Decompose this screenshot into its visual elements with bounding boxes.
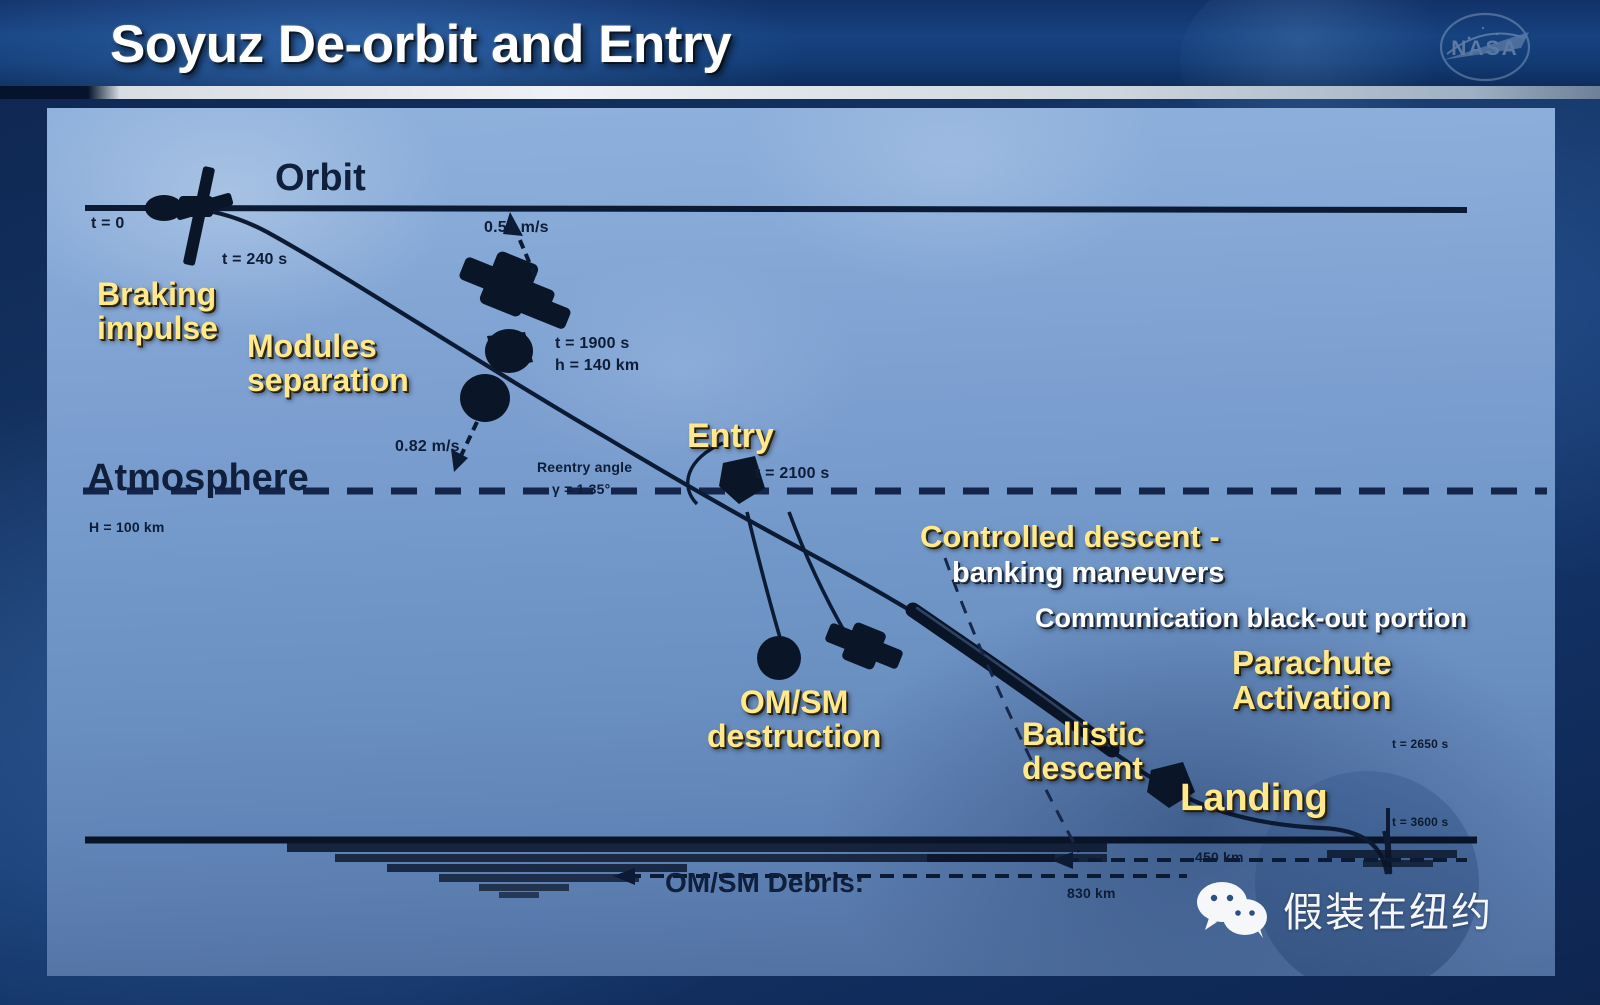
trajectory-vector-art xyxy=(47,108,1555,976)
title-divider-rule xyxy=(0,86,1600,99)
atmosphere-altitude-label: H = 100 km xyxy=(89,520,165,535)
orbit-label: Orbit xyxy=(275,158,366,198)
watermark-text: 假装在纽约 xyxy=(1283,880,1493,938)
page-title: Soyuz De-orbit and Entry xyxy=(110,14,731,75)
annotation-t0: t = 0 xyxy=(91,216,124,233)
om-debris-blob xyxy=(757,636,801,680)
annotation-separation-velocity-up: 0.58 m/s xyxy=(484,220,549,237)
annotation-h140: h = 140 km xyxy=(555,358,639,375)
om-sm-destruction-label: OM/SM destruction xyxy=(707,686,881,754)
annotation-t2650: t = 2650 s xyxy=(1392,738,1448,751)
watermark: 假装在纽约 xyxy=(1195,880,1493,938)
debris-range-near-label: 450 km xyxy=(1195,850,1244,865)
presentation-slide: Soyuz De-orbit and Entry NASA xyxy=(0,0,1600,1005)
parachute-activation-label: Parachute Activation xyxy=(1232,646,1392,716)
reentry-angle-label-line1: Reentry angle xyxy=(537,460,632,475)
om-destruction-path xyxy=(747,512,783,648)
communication-blackout-label: Communication black-out portion xyxy=(1035,604,1467,633)
annotation-t3600: t = 3600 s xyxy=(1392,816,1448,829)
atmosphere-label: Atmosphere xyxy=(87,458,309,498)
entry-label: Entry xyxy=(687,418,774,454)
annotation-t2100: t = 2100 s xyxy=(755,466,830,483)
controlled-descent-label: Controlled descent - xyxy=(920,521,1220,554)
deorbit-trajectory-diagram: Orbit t = 0 t = 240 s Braking impulse Mo… xyxy=(47,108,1555,976)
soyuz-spacecraft-orbit-icon xyxy=(145,166,234,266)
debris-range-far-label: 830 km xyxy=(1067,886,1116,901)
banking-maneuvers-label: banking maneuvers xyxy=(952,558,1224,589)
nasa-logo-icon: NASA xyxy=(1425,8,1545,86)
om-sm-debris-label: OM/SM Debris: xyxy=(665,868,864,898)
modules-separation-label: Modules separation xyxy=(247,330,409,398)
slide-title-band: Soyuz De-orbit and Entry NASA xyxy=(0,0,1600,90)
orbit-line xyxy=(85,208,1467,210)
sm-debris-blob xyxy=(824,621,904,671)
reentry-angle-label-line2: γ = 1.35° xyxy=(552,482,610,497)
svg-text:NASA: NASA xyxy=(1451,37,1519,60)
annotation-t240: t = 240 s xyxy=(222,252,287,269)
landing-label: Landing xyxy=(1180,778,1328,818)
sm-destruction-path xyxy=(789,512,847,636)
ballistic-descent-label: Ballistic descent xyxy=(1022,718,1145,786)
wechat-icon xyxy=(1195,880,1271,938)
braking-impulse-label: Braking impulse xyxy=(97,278,218,346)
annotation-separation-velocity-down: 0.82 m/s xyxy=(395,439,460,456)
annotation-t1900: t = 1900 s xyxy=(555,336,630,353)
